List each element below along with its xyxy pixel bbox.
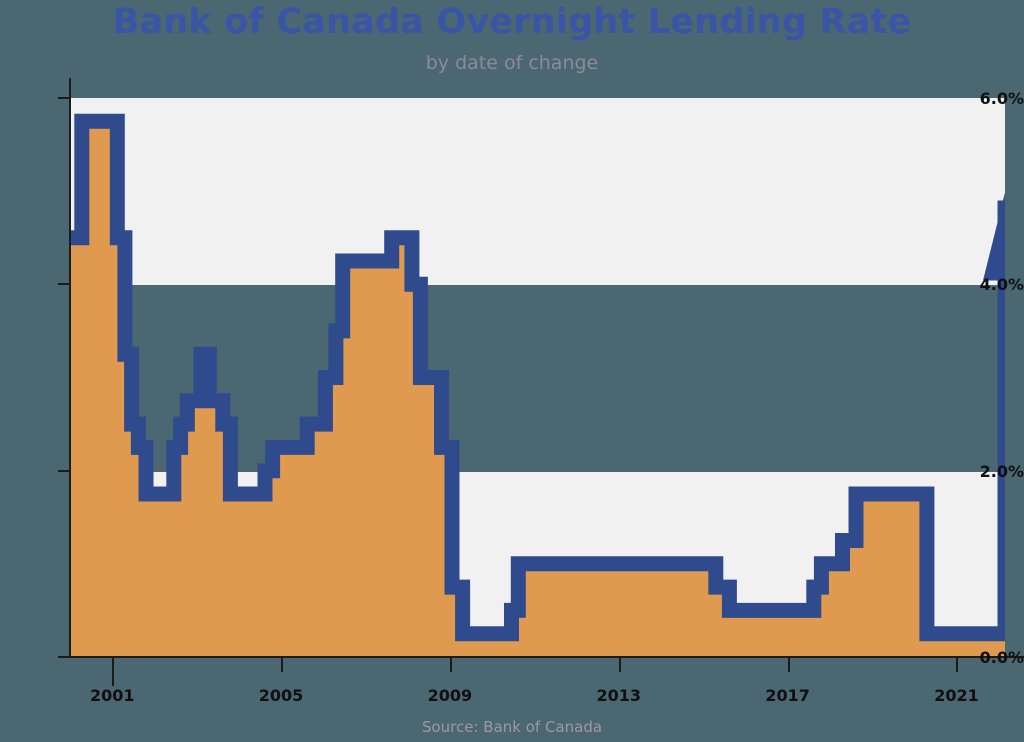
- y-tick-mark: [58, 97, 70, 99]
- x-tick-label: 2001: [72, 686, 152, 705]
- y-tick-mark: [58, 283, 70, 285]
- x-tick-mark: [619, 658, 621, 672]
- y-tick-label: 6.0%: [968, 89, 1024, 108]
- x-tick-label: 2017: [748, 686, 828, 705]
- x-tick-label: 2021: [916, 686, 996, 705]
- x-tick-label: 2013: [579, 686, 659, 705]
- series-canvas: [70, 98, 1005, 657]
- x-tick-mark: [112, 658, 114, 686]
- x-tick-label: 2009: [410, 686, 490, 705]
- plot-area: [70, 98, 1005, 657]
- y-tick-label: 2.0%: [968, 462, 1024, 481]
- x-tick-mark: [281, 658, 283, 672]
- y-tick-label: 0.0%: [968, 648, 1024, 667]
- source-note: Source: Bank of Canada: [0, 718, 1024, 736]
- x-tick-mark: [788, 658, 790, 672]
- y-axis-line: [69, 78, 71, 657]
- y-tick-mark: [58, 656, 70, 658]
- arrowhead-icon: [983, 193, 1005, 281]
- chart-subtitle: by date of change: [0, 52, 1024, 74]
- chart-title: Bank of Canada Overnight Lending Rate: [0, 2, 1024, 42]
- y-tick-mark: [58, 470, 70, 472]
- x-tick-label: 2005: [241, 686, 321, 705]
- x-tick-mark: [956, 658, 958, 672]
- x-tick-mark: [450, 658, 452, 672]
- x-axis-line: [69, 656, 1024, 658]
- y-tick-label: 4.0%: [968, 275, 1024, 294]
- chart-figure: Bank of Canada Overnight Lending Rate by…: [0, 0, 1024, 742]
